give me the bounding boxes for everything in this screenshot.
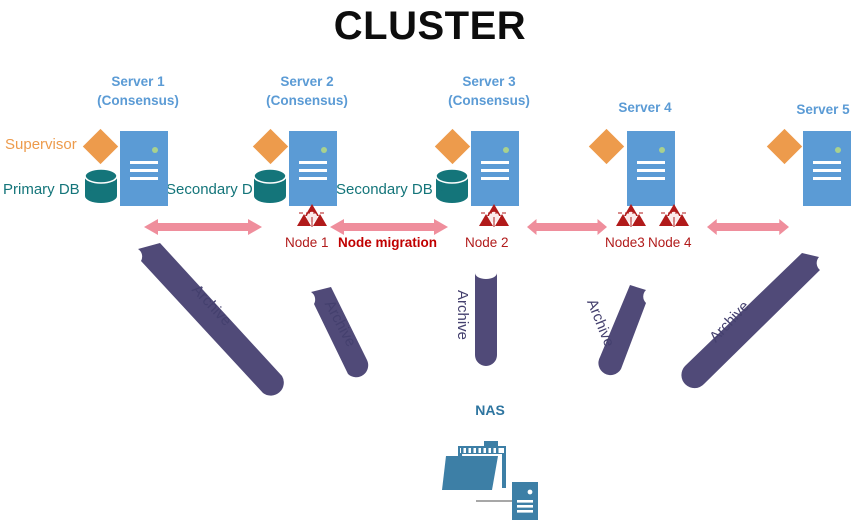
page-title: CLUSTER xyxy=(0,2,860,50)
database-cylinder-3 xyxy=(435,168,469,204)
server-header-3: Server 3 (Consensus) xyxy=(414,72,564,110)
server-tower-1 xyxy=(120,131,168,206)
server-bar xyxy=(130,169,158,172)
server-bar xyxy=(481,177,509,180)
server-header-2: Server 2 (Consensus) xyxy=(232,72,382,110)
node-label-2: Node 2 xyxy=(465,235,509,251)
server-name-2: Server 2 xyxy=(280,74,333,89)
supervisor-diamond-5 xyxy=(767,129,802,164)
nas-folder-icon xyxy=(440,438,550,520)
server-bar xyxy=(637,169,665,172)
server-bar xyxy=(481,169,509,172)
supervisor-diamond-3 xyxy=(435,129,470,164)
server-bar xyxy=(299,161,327,164)
server-bar xyxy=(813,161,841,164)
archive-arrow-3 xyxy=(471,269,501,369)
server-bar xyxy=(813,169,841,172)
server-tower-4 xyxy=(627,131,675,206)
supervisor-row-label: Supervisor xyxy=(5,136,77,154)
node-migration-label: Node migration xyxy=(338,235,437,251)
server-led-3 xyxy=(503,147,509,153)
server-led-1 xyxy=(152,147,158,153)
supervisor-diamond-2 xyxy=(253,129,288,164)
server-header-1: Server 1 (Consensus) xyxy=(63,72,213,110)
server-bar xyxy=(637,161,665,164)
archive-label-3: Archive xyxy=(454,290,470,340)
server-bar xyxy=(130,161,158,164)
archive-label-5: Archive xyxy=(707,298,753,346)
archive-label-4: Archive xyxy=(583,297,617,349)
supervisor-diamond-1 xyxy=(83,129,118,164)
node-triangle-icon-4 xyxy=(659,203,689,227)
server-bar xyxy=(299,169,327,172)
server-led-2 xyxy=(321,147,327,153)
server-led-4 xyxy=(659,147,665,153)
server-bar xyxy=(481,161,509,164)
server-tower-3 xyxy=(471,131,519,206)
link-arrow-4 xyxy=(707,216,789,238)
archive-label-2: Archive xyxy=(321,298,359,350)
node-triangle-icon-3 xyxy=(616,203,646,227)
server-role-2: (Consensus) xyxy=(232,91,382,110)
server-role-3: (Consensus) xyxy=(414,91,564,110)
archive-arrow-5 xyxy=(675,253,827,395)
server-bar xyxy=(130,177,158,180)
cluster-diagram: CLUSTER Server 1 (Consensus) Server 2 (C… xyxy=(0,0,860,528)
secondary-db-label-1: Secondary DB xyxy=(166,181,263,199)
server-bar xyxy=(299,177,327,180)
primary-db-label: Primary DB xyxy=(3,181,80,199)
server-bar xyxy=(813,177,841,180)
server-role-1: (Consensus) xyxy=(63,91,213,110)
node-label-3: Node3 xyxy=(605,235,645,251)
node-label-1: Node 1 xyxy=(285,235,329,251)
server-header-4: Server 4 xyxy=(570,98,720,117)
link-arrow-1 xyxy=(144,216,262,238)
node-label-4: Node 4 xyxy=(648,235,692,251)
server-tower-5 xyxy=(803,131,851,206)
server-header-5: Server 5 xyxy=(748,100,860,119)
server-name-1: Server 1 xyxy=(111,74,164,89)
nas-label: NAS xyxy=(430,402,550,419)
server-name-4: Server 4 xyxy=(618,100,671,115)
secondary-db-label-2: Secondary DB xyxy=(336,181,433,199)
server-tower-2 xyxy=(289,131,337,206)
supervisor-diamond-4 xyxy=(589,129,624,164)
server-bar xyxy=(637,177,665,180)
server-name-5: Server 5 xyxy=(796,102,849,117)
server-led-5 xyxy=(835,147,841,153)
server-name-3: Server 3 xyxy=(462,74,515,89)
node-triangle-icon-1 xyxy=(297,203,327,227)
link-arrow-3 xyxy=(527,216,607,238)
archive-label-1: Archive xyxy=(188,282,234,330)
node-triangle-icon-2 xyxy=(479,203,509,227)
database-cylinder-1 xyxy=(84,168,118,204)
